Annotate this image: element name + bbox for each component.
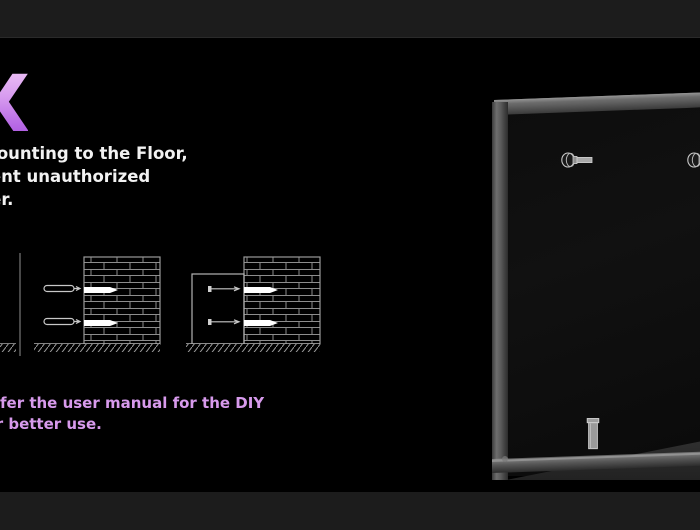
letterbox-band-top (0, 0, 700, 38)
mounting-bolt-floor-icon (584, 417, 602, 455)
diagram-step-2 (186, 257, 320, 352)
headline-text: for Mounting to the Floor, prevent unaut… (0, 142, 268, 211)
installation-diagram (0, 243, 340, 368)
mounting-bolt-top-left-icon (560, 150, 598, 170)
locker-back-panel (506, 108, 700, 476)
frame-rail-left (492, 102, 508, 480)
product-photo (488, 60, 700, 485)
diagram-step-1 (34, 257, 160, 352)
accent-letter-mark: X (0, 66, 28, 144)
letterbox-band-bottom (0, 492, 700, 530)
footnote-text: ase refer the user manual for the DIY bl… (0, 393, 348, 435)
banner-content: X for Mounting to the Floor, prevent una… (0, 38, 700, 492)
product-banner-slide: X for Mounting to the Floor, prevent una… (0, 0, 700, 530)
frame-corner-joint (502, 456, 508, 462)
mounting-bolt-top-right-icon (686, 150, 700, 170)
ground-hatch-crop (0, 344, 16, 352)
locker-frame (488, 60, 700, 480)
